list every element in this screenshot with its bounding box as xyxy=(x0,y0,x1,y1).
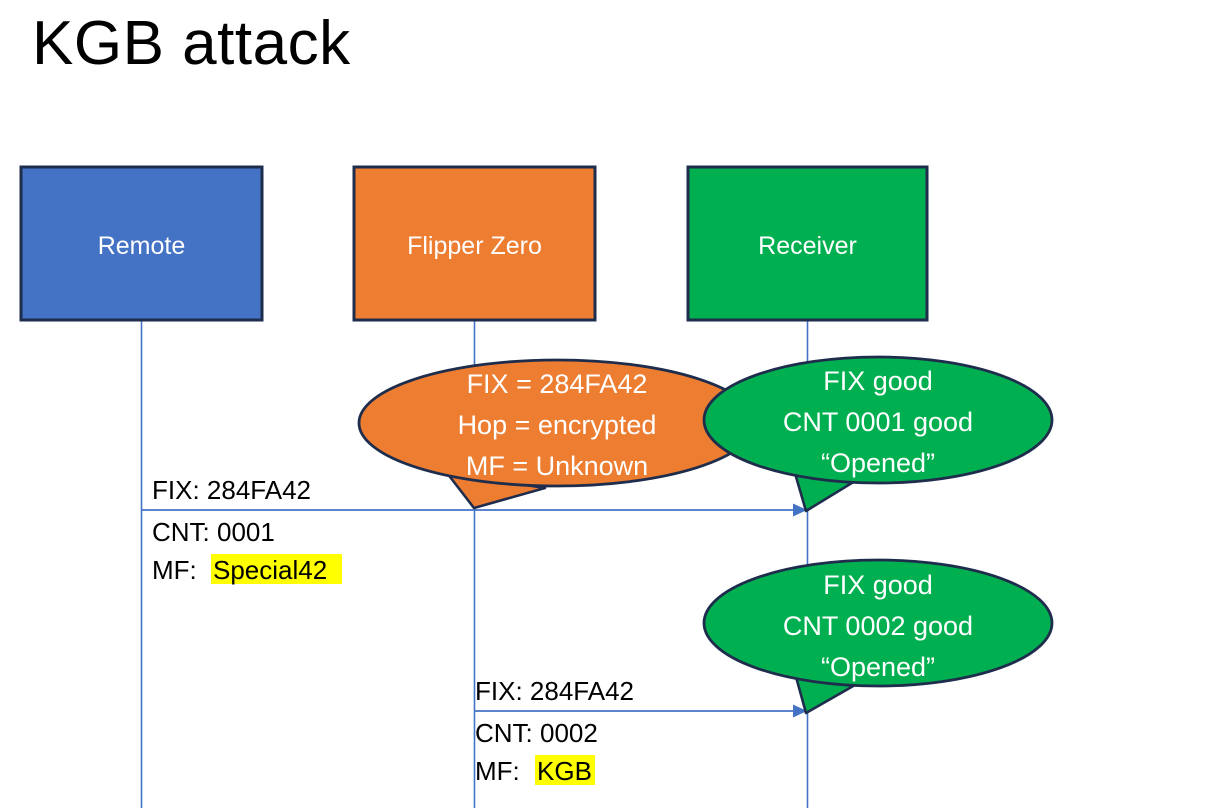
actor-label-receiver: Receiver xyxy=(758,232,857,260)
callout-3-line-1: CNT 0002 good xyxy=(783,611,973,641)
callout-3-line-0: FIX good xyxy=(823,570,933,600)
callout-2-line-2: “Opened” xyxy=(821,448,935,478)
message-1-mf-value: Special42 xyxy=(213,555,327,585)
message-2-cnt: CNT: 0002 xyxy=(475,718,598,748)
callout-3-line-2: “Opened” xyxy=(821,652,935,682)
message-arrow-2 xyxy=(475,705,808,718)
message-1-cnt: CNT: 0001 xyxy=(152,517,275,547)
callout-1-line-1: Hop = encrypted xyxy=(458,410,657,440)
message-label-2: FIX: 284FA42 CNT: 0002 MF: KGB xyxy=(475,676,634,786)
message-2-mf-value: KGB xyxy=(537,756,592,786)
message-label-1: FIX: 284FA42 CNT: 0001 MF: Special42 xyxy=(152,475,342,585)
receiver-accept-callout-1[interactable]: FIX good CNT 0001 good “Opened” xyxy=(704,357,1052,511)
receiver-accept-callout-2[interactable]: FIX good CNT 0002 good “Opened” xyxy=(704,560,1052,713)
slide-canvas: KGB attack Remote Flipper Zero Receiver … xyxy=(0,0,1218,808)
sequence-diagram: Remote Flipper Zero Receiver FIX = 284FA… xyxy=(0,0,1218,808)
message-2-fix: FIX: 284FA42 xyxy=(475,676,634,706)
callout-2-line-1: CNT 0001 good xyxy=(783,407,973,437)
message-1-fix: FIX: 284FA42 xyxy=(152,475,311,505)
message-1-mf-prefix: MF: xyxy=(152,555,197,585)
callout-1-line-2: MF = Unknown xyxy=(466,451,648,481)
message-2-mf-prefix: MF: xyxy=(475,756,520,786)
flipper-capture-callout[interactable]: FIX = 284FA42 Hop = encrypted MF = Unkno… xyxy=(359,360,755,508)
callout-1-line-0: FIX = 284FA42 xyxy=(467,369,648,399)
actor-label-flipper: Flipper Zero xyxy=(407,232,542,260)
callout-2-line-0: FIX good xyxy=(823,366,933,396)
actor-label-remote: Remote xyxy=(98,232,186,260)
